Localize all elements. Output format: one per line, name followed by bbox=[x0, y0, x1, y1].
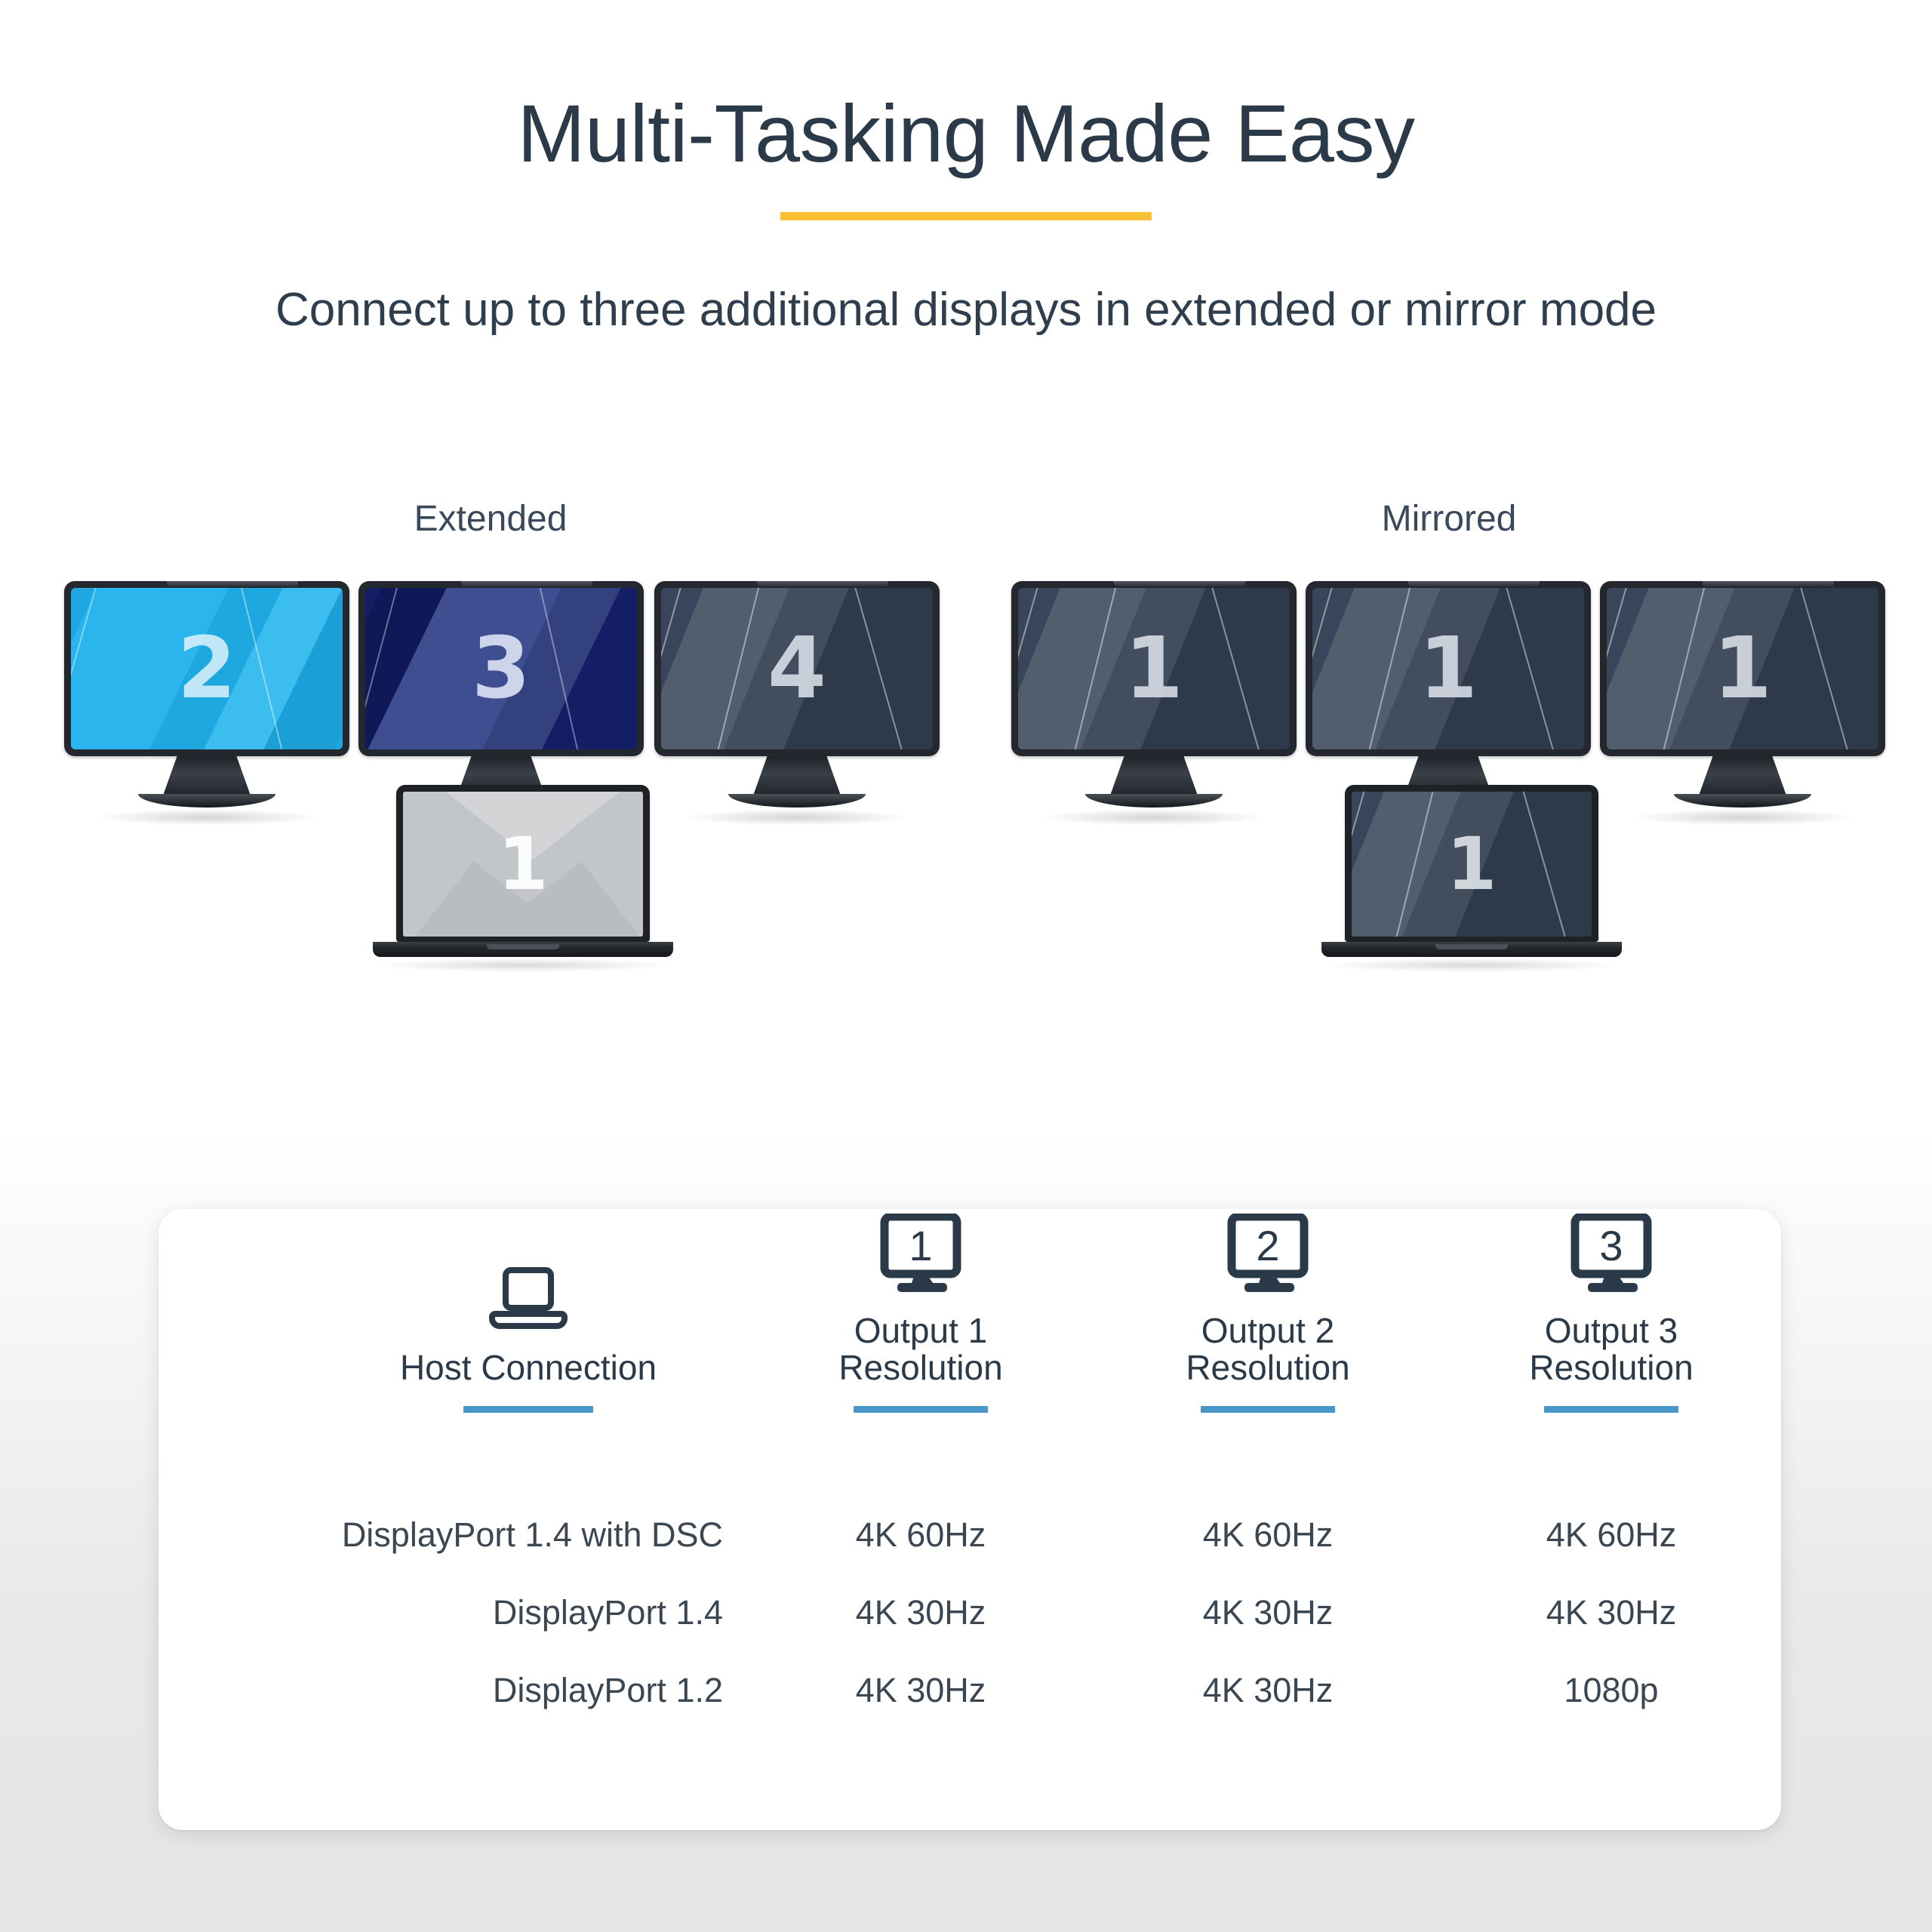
monitor-number: 1 bbox=[1607, 588, 1878, 749]
monitor-screen: 1 bbox=[1018, 588, 1290, 749]
table-corner-spacer bbox=[158, 1209, 309, 1413]
row-gutter bbox=[158, 1496, 309, 1574]
column-header-output-3: 3 Output 3 Resolution bbox=[1441, 1209, 1781, 1413]
monitor-base bbox=[1674, 794, 1811, 808]
monitor-number: 4 bbox=[661, 588, 933, 749]
header-accent-rule bbox=[854, 1406, 988, 1413]
monitor-number: 2 bbox=[71, 588, 343, 749]
column-header-line1: Output 2 bbox=[1201, 1311, 1334, 1350]
laptop-extended: 1 bbox=[396, 785, 650, 972]
monitor-base bbox=[728, 794, 866, 808]
screen-glare bbox=[757, 574, 888, 586]
monitor-shadow bbox=[684, 809, 910, 826]
monitor-bezel: 1 bbox=[1600, 581, 1885, 756]
monitor-mirrored-1a: 1 bbox=[1011, 581, 1297, 826]
monitor-number: 1 bbox=[1312, 588, 1584, 749]
screen-glare bbox=[1114, 574, 1245, 586]
monitor-number: 3 bbox=[365, 588, 637, 749]
monitor-bezel: 1 bbox=[1306, 581, 1591, 756]
table-spacer-row bbox=[158, 1413, 1781, 1496]
column-header-line1: Output 3 bbox=[1545, 1311, 1678, 1350]
monitor-mirrored-1c: 1 bbox=[1600, 581, 1885, 826]
column-header-label: Host Connection bbox=[400, 1349, 657, 1386]
resolution-spec-card: Host Connection 1 Output 1 Resolution bbox=[158, 1209, 1781, 1830]
laptop-base bbox=[1321, 942, 1622, 957]
group-label-extended: Extended bbox=[340, 498, 641, 540]
laptop-shadow bbox=[372, 958, 674, 972]
table-cell-output1: 4K 30Hz bbox=[747, 1574, 1094, 1651]
laptop-shadow bbox=[1321, 958, 1623, 972]
table-cell-output1: 4K 30Hz bbox=[747, 1651, 1094, 1729]
laptop-number: 1 bbox=[403, 792, 643, 937]
laptop-mirrored: 1 bbox=[1345, 785, 1598, 972]
monitor-bezel: 1 bbox=[1011, 581, 1297, 756]
monitor-bezel: 4 bbox=[654, 581, 940, 756]
monitor-bezel: 3 bbox=[358, 581, 644, 756]
table-cell-host: DisplayPort 1.4 bbox=[309, 1574, 747, 1651]
laptop-lid: 1 bbox=[396, 785, 650, 942]
table-cell-output2: 4K 60Hz bbox=[1094, 1496, 1441, 1574]
page-subtitle: Connect up to three additional displays … bbox=[0, 220, 1932, 338]
monitor-shadow bbox=[1629, 809, 1856, 826]
monitor-stand bbox=[753, 756, 841, 795]
table-cell-host: DisplayPort 1.2 bbox=[309, 1651, 747, 1729]
laptop-trackpad-notch bbox=[487, 944, 559, 949]
monitor-screen: 1 bbox=[1312, 588, 1584, 749]
table-cell-host: DisplayPort 1.4 with DSC bbox=[309, 1496, 747, 1574]
group-label-mirrored: Mirrored bbox=[1298, 498, 1600, 540]
column-header-host-connection: Host Connection bbox=[309, 1209, 747, 1413]
monitor-icon: 1 bbox=[878, 1214, 963, 1296]
laptop-screen: 1 bbox=[1352, 792, 1592, 937]
header-accent-rule bbox=[463, 1406, 593, 1413]
monitor-shadow bbox=[94, 809, 320, 826]
monitor-icon-number: 1 bbox=[909, 1222, 932, 1269]
monitor-icon-number: 3 bbox=[1599, 1222, 1623, 1269]
monitor-base bbox=[1085, 794, 1223, 808]
monitor-stand bbox=[1699, 756, 1786, 795]
title-accent-underline bbox=[780, 212, 1152, 220]
display-mode-diagram: Extended Mirrored 2 bbox=[0, 498, 1932, 1117]
laptop-lid: 1 bbox=[1345, 785, 1598, 942]
monitor-base bbox=[138, 794, 275, 808]
monitor-screen: 1 bbox=[1607, 588, 1878, 749]
header: Multi-Tasking Made Easy Connect up to th… bbox=[0, 0, 1932, 339]
laptop-icon bbox=[488, 1267, 569, 1333]
monitor-number: 1 bbox=[1018, 588, 1290, 749]
laptop-screen: 1 bbox=[403, 792, 643, 937]
monitor-icon-number: 2 bbox=[1256, 1222, 1279, 1269]
monitor-screen: 4 bbox=[661, 588, 933, 749]
monitor-stand bbox=[163, 756, 251, 795]
monitor-extended-4: 4 bbox=[654, 581, 940, 826]
monitor-icon: 3 bbox=[1569, 1214, 1654, 1296]
monitor-extended-2: 2 bbox=[64, 581, 349, 826]
monitor-bezel: 2 bbox=[64, 581, 349, 756]
screen-glare bbox=[1703, 574, 1834, 586]
resolution-spec-table: Host Connection 1 Output 1 Resolution bbox=[158, 1209, 1781, 1830]
monitor-screen: 3 bbox=[365, 588, 637, 749]
page-title: Multi-Tasking Made Easy bbox=[0, 0, 1932, 176]
table-cell-output2: 4K 30Hz bbox=[1094, 1574, 1441, 1651]
column-header-output-2: 2 Output 2 Resolution bbox=[1094, 1209, 1441, 1413]
header-accent-rule bbox=[1201, 1406, 1335, 1413]
table-cell-output3: 4K 30Hz bbox=[1441, 1574, 1781, 1651]
table-cell-output1: 4K 60Hz bbox=[747, 1496, 1094, 1574]
monitor-shadow bbox=[1041, 809, 1267, 826]
screen-glare bbox=[1408, 574, 1540, 586]
laptop-trackpad-notch bbox=[1435, 944, 1508, 949]
table-cell-output2: 4K 30Hz bbox=[1094, 1651, 1441, 1729]
screen-glare bbox=[167, 574, 298, 586]
column-header-label: Output 2 Resolution bbox=[1186, 1312, 1349, 1386]
table-cell-output3: 4K 60Hz bbox=[1441, 1496, 1781, 1574]
column-header-output-1: 1 Output 1 Resolution bbox=[747, 1209, 1094, 1413]
table-cell-output3: 1080p bbox=[1441, 1651, 1781, 1729]
row-gutter bbox=[158, 1651, 309, 1729]
monitor-stand bbox=[1110, 756, 1198, 795]
laptop-base bbox=[373, 942, 673, 957]
column-header-line1: Output 1 bbox=[854, 1311, 987, 1350]
column-header-line2: Resolution bbox=[1529, 1348, 1693, 1387]
monitor-icon: 2 bbox=[1226, 1214, 1310, 1296]
header-accent-rule bbox=[1544, 1406, 1678, 1413]
laptop-number: 1 bbox=[1352, 792, 1592, 937]
column-header-line2: Resolution bbox=[838, 1348, 1002, 1387]
row-gutter bbox=[158, 1574, 309, 1651]
monitor-screen: 2 bbox=[71, 588, 343, 749]
column-header-label: Output 1 Resolution bbox=[838, 1312, 1002, 1386]
column-header-label: Output 3 Resolution bbox=[1529, 1312, 1693, 1386]
screen-glare bbox=[461, 574, 592, 586]
column-header-line2: Resolution bbox=[1186, 1348, 1349, 1387]
